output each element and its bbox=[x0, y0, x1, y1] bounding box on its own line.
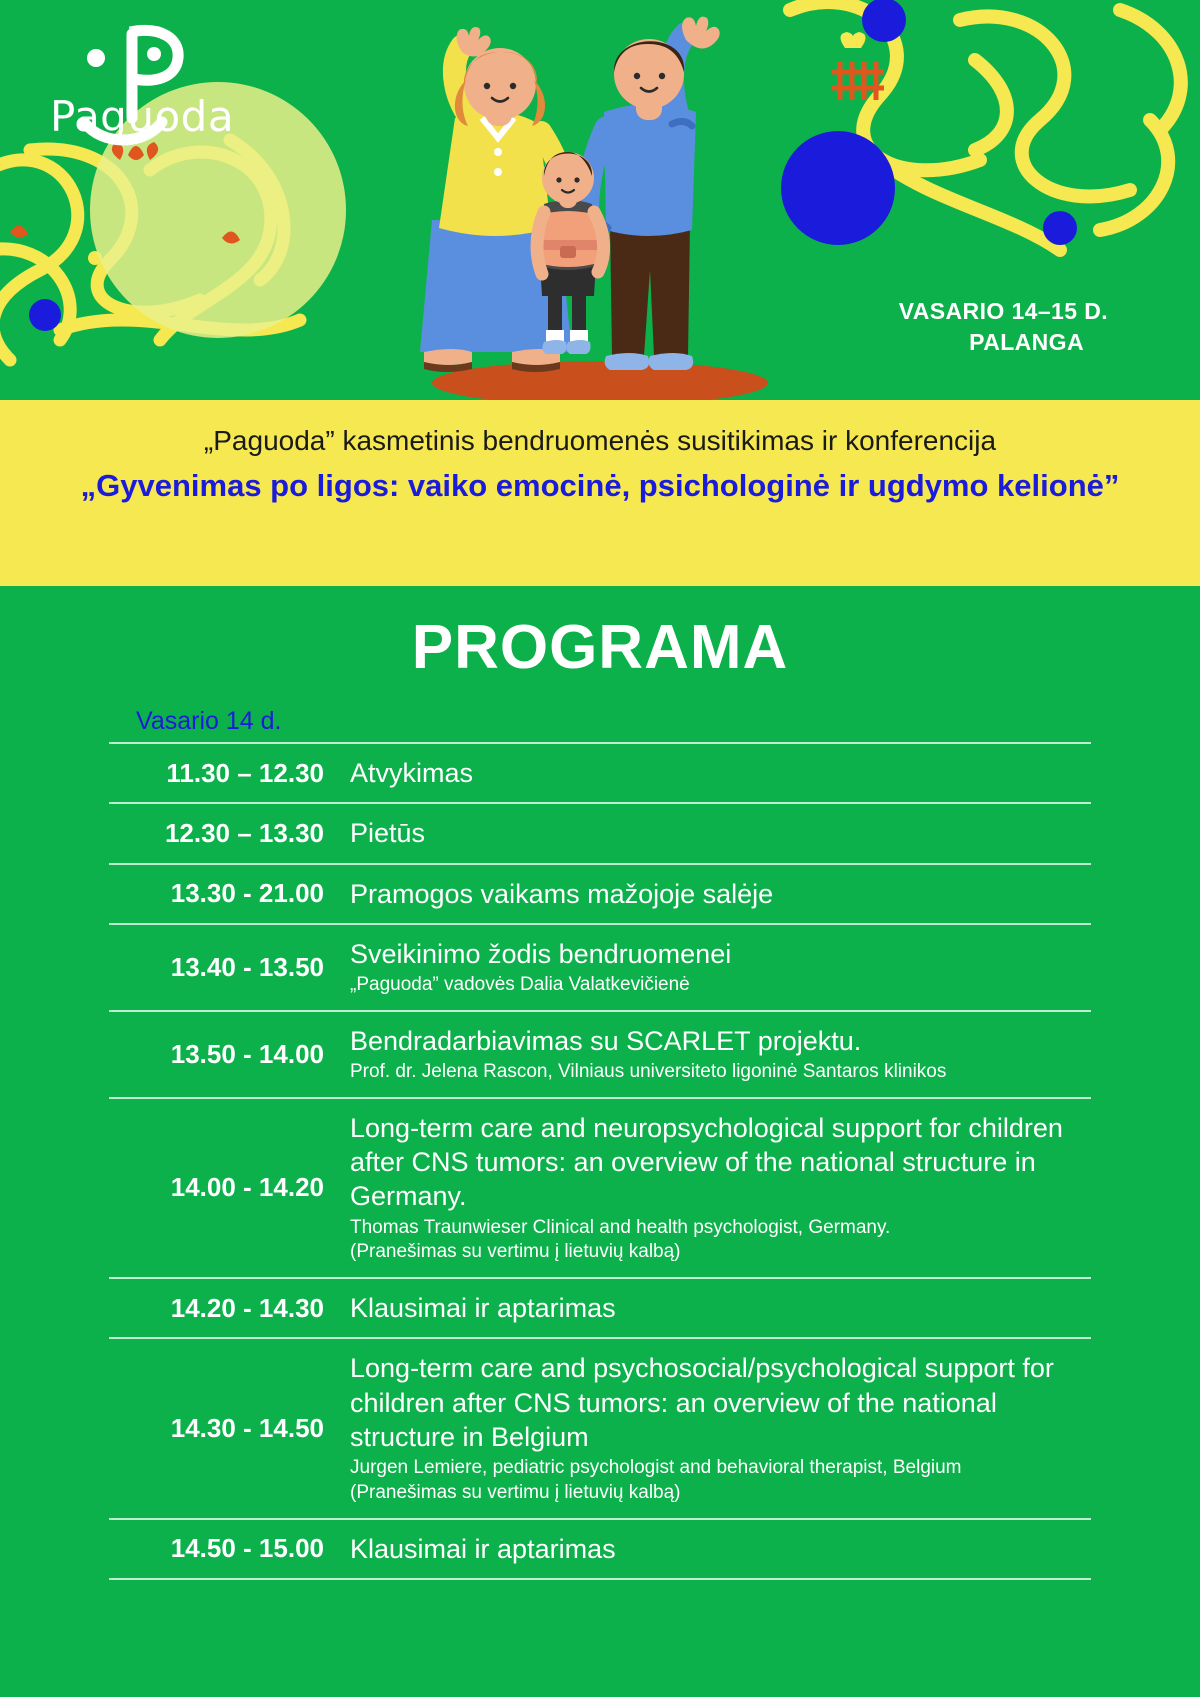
table-row: 14.30 - 14.50Long-term care and psychoso… bbox=[109, 1338, 1091, 1518]
row-time: 11.30 – 12.30 bbox=[109, 743, 350, 803]
title-banner: „Paguoda” kasmetinis bendruomenės susiti… bbox=[0, 400, 1200, 586]
brand-name: Paguoda bbox=[50, 92, 234, 141]
row-title: Long-term care and neuropsychological su… bbox=[350, 1111, 1083, 1214]
row-description: Pramogos vaikams mažojoje salėje bbox=[350, 864, 1091, 924]
table-row: 13.30 - 21.00Pramogos vaikams mažojoje s… bbox=[109, 864, 1091, 924]
program-section: PROGRAMA Vasario 14 d. 11.30 – 12.30Atvy… bbox=[0, 586, 1200, 1580]
row-title: Sveikinimo žodis bendruomenei bbox=[350, 937, 1083, 971]
event-date: VASARIO 14–15 D. bbox=[899, 298, 1108, 324]
table-row: 14.50 - 15.00Klausimai ir aptarimas bbox=[109, 1519, 1091, 1579]
row-speaker: „Paguoda” vadovės Dalia Valatkevičienė bbox=[350, 973, 1083, 998]
table-row: 12.30 – 13.30Pietūs bbox=[109, 803, 1091, 863]
row-description: Bendradarbiavimas su SCARLET projektu.Pr… bbox=[350, 1011, 1091, 1098]
row-description: Klausimai ir aptarimas bbox=[350, 1519, 1091, 1579]
row-time: 13.30 - 21.00 bbox=[109, 864, 350, 924]
row-description: Atvykimas bbox=[350, 743, 1091, 803]
row-time: 12.30 – 13.30 bbox=[109, 803, 350, 863]
row-title: Klausimai ir aptarimas bbox=[350, 1532, 1083, 1566]
row-description: Klausimai ir aptarimas bbox=[350, 1278, 1091, 1338]
row-description: Sveikinimo žodis bendruomenei„Paguoda” v… bbox=[350, 924, 1091, 1011]
row-title: Pramogos vaikams mažojoje salėje bbox=[350, 877, 1083, 911]
row-description: Pietūs bbox=[350, 803, 1091, 863]
row-speaker: (Pranešimas su vertimu į lietuvių kalbą) bbox=[350, 1481, 1083, 1506]
dot-blue-farright bbox=[1043, 211, 1077, 245]
row-time: 13.50 - 14.00 bbox=[109, 1011, 350, 1098]
row-title: Bendradarbiavimas su SCARLET projektu. bbox=[350, 1024, 1083, 1058]
row-time: 14.30 - 14.50 bbox=[109, 1338, 350, 1518]
row-title: Atvykimas bbox=[350, 756, 1083, 790]
dot-blue-left bbox=[29, 299, 61, 331]
poster-page: Paguoda VASARIO 14–15 D. PALANGA „Paguod… bbox=[0, 0, 1200, 1697]
row-title: Long-term care and psychosocial/psycholo… bbox=[350, 1351, 1083, 1454]
dot-blue-topright bbox=[862, 0, 906, 42]
row-time: 14.20 - 14.30 bbox=[109, 1278, 350, 1338]
row-title: Pietūs bbox=[350, 816, 1083, 850]
row-speaker: (Pranešimas su vertimu į lietuvių kalbą) bbox=[350, 1240, 1083, 1265]
program-day-label: Vasario 14 d. bbox=[136, 707, 1200, 736]
schedule-table: 11.30 – 12.30Atvykimas12.30 – 13.30Pietū… bbox=[109, 742, 1091, 1580]
table-row: 13.40 - 13.50Sveikinimo žodis bendruomen… bbox=[109, 924, 1091, 1011]
row-time: 13.40 - 13.50 bbox=[109, 924, 350, 1011]
row-speaker: Jurgen Lemiere, pediatric psychologist a… bbox=[350, 1456, 1083, 1481]
row-time: 14.50 - 15.00 bbox=[109, 1519, 350, 1579]
page-title: PROGRAMA bbox=[0, 586, 1200, 689]
banner-title: „Gyvenimas po ligos: vaiko emocinė, psic… bbox=[60, 464, 1140, 507]
table-row: 13.50 - 14.00Bendradarbiavimas su SCARLE… bbox=[109, 1011, 1091, 1098]
table-row: 14.00 - 14.20Long-term care and neuropsy… bbox=[109, 1098, 1091, 1278]
row-speaker: Thomas Traunwieser Clinical and health p… bbox=[350, 1216, 1083, 1241]
row-title: Klausimai ir aptarimas bbox=[350, 1291, 1083, 1325]
row-speaker: Prof. dr. Jelena Rascon, Vilniaus univer… bbox=[350, 1060, 1083, 1085]
banner-subtitle: „Paguoda” kasmetinis bendruomenės susiti… bbox=[60, 422, 1140, 460]
row-time: 14.00 - 14.20 bbox=[109, 1098, 350, 1278]
row-description: Long-term care and psychosocial/psycholo… bbox=[350, 1338, 1091, 1518]
table-row: 11.30 – 12.30Atvykimas bbox=[109, 743, 1091, 803]
dot-blue-right bbox=[781, 131, 895, 245]
row-description: Long-term care and neuropsychological su… bbox=[350, 1098, 1091, 1278]
hero-section: Paguoda VASARIO 14–15 D. PALANGA bbox=[0, 0, 1200, 400]
event-date-location: VASARIO 14–15 D. PALANGA bbox=[899, 296, 1108, 358]
table-row: 14.20 - 14.30Klausimai ir aptarimas bbox=[109, 1278, 1091, 1338]
event-location: PALANGA bbox=[899, 327, 1084, 358]
